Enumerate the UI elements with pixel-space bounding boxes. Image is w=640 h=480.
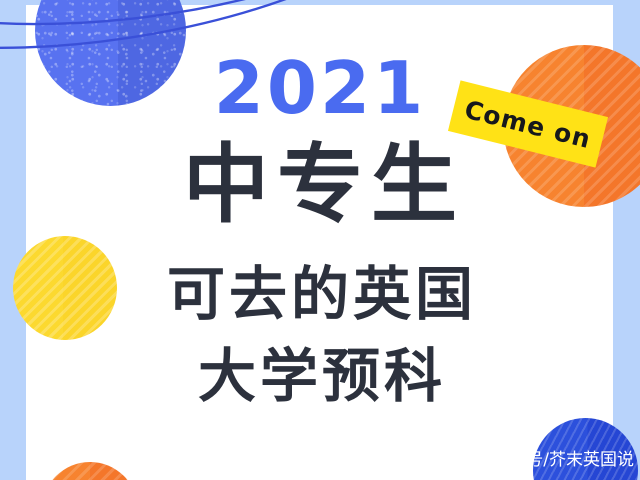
poster-canvas: 2021 中专生 可去的英国 大学预科 Come on 号/芥末英国说: [0, 0, 640, 480]
watermark-label: 号/芥末英国说: [526, 445, 634, 470]
subtitle-line-2: 大学预科: [0, 344, 640, 409]
subtitle-line-1: 可去的英国: [0, 262, 640, 327]
